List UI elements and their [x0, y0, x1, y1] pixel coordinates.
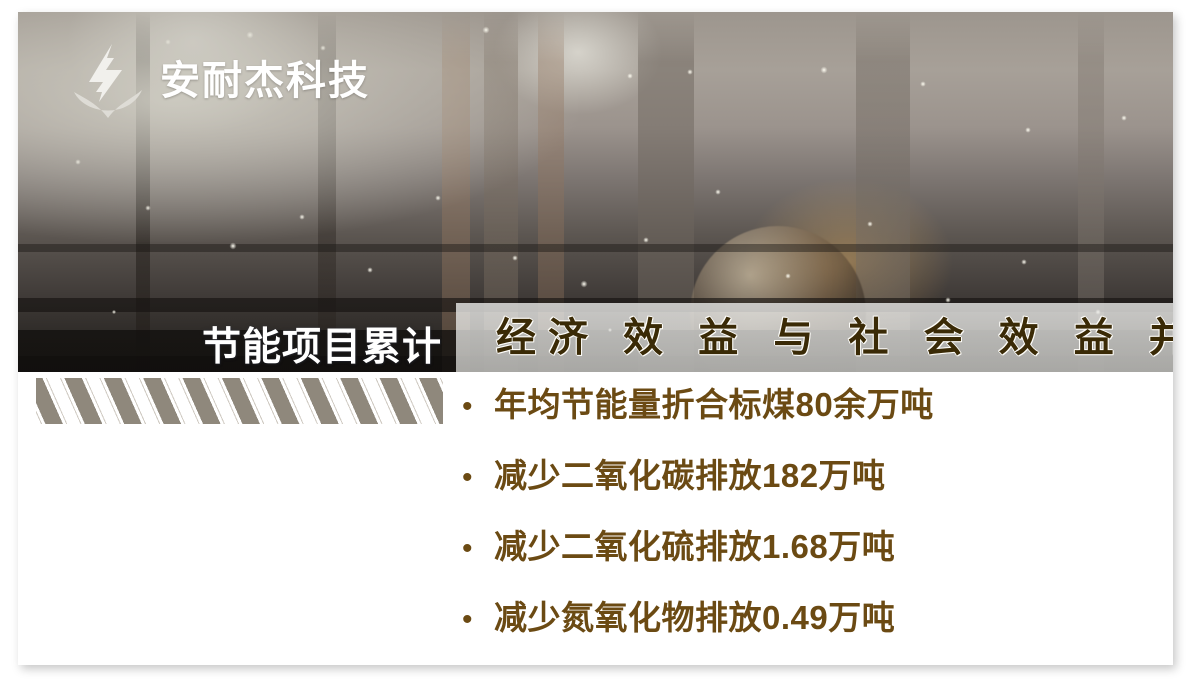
hero-image: 安耐杰科技 经济 效 益 与 社 会 效 益 并 举 — [18, 12, 1173, 372]
bullet-marker-icon: • — [450, 534, 494, 564]
list-item: • 年均节能量折合标煤80余万吨 — [450, 388, 1150, 459]
list-item: • 减少氮氧化物排放0.49万吨 — [450, 601, 1150, 665]
brand-logo: 安耐杰科技 — [72, 42, 370, 120]
list-item: • 减少二氧化碳排放182万吨 — [450, 459, 1150, 530]
bullet-text: 减少二氧化硫排放1.68万吨 — [494, 530, 895, 563]
bullet-text: 年均节能量折合标煤80余万吨 — [494, 388, 934, 421]
hero-kicker: 节能项目累计 — [202, 328, 442, 367]
diagonal-stripe-bar — [36, 378, 443, 424]
bullet-text: 减少二氧化碳排放182万吨 — [494, 459, 886, 492]
bullet-marker-icon: • — [450, 463, 494, 493]
lightning-bolt-swoosh-icon — [72, 42, 146, 120]
diagonal-stripe-pattern — [36, 378, 443, 424]
bullet-list: • 年均节能量折合标煤80余万吨 • 减少二氧化碳排放182万吨 • 减少二氧化… — [450, 388, 1150, 665]
list-item: • 减少二氧化硫排放1.68万吨 — [450, 530, 1150, 601]
company-name: 安耐杰科技 — [160, 61, 370, 101]
hero-band-title: 经济 效 益 与 社 会 效 益 并 举 — [496, 315, 1173, 361]
bullet-marker-icon: • — [450, 392, 494, 422]
slide-canvas: 安耐杰科技 经济 效 益 与 社 会 效 益 并 举 节能项目累计 • 年均节能… — [18, 12, 1173, 665]
bullet-marker-icon: • — [450, 605, 494, 635]
bullet-text: 减少氮氧化物排放0.49万吨 — [494, 601, 895, 634]
